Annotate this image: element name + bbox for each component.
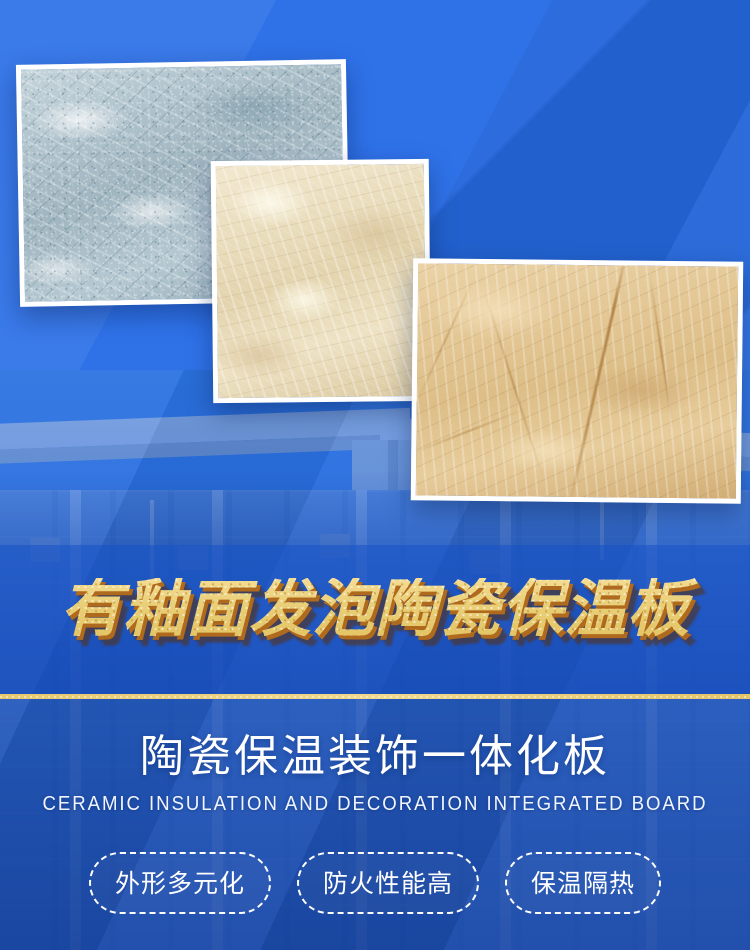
gold-divider — [0, 694, 750, 699]
feature-badge-list: 外形多元化 防火性能高 保温隔热 — [0, 852, 750, 914]
feature-badge-shape[interactable]: 外形多元化 — [89, 852, 271, 914]
tile-sample-tan[interactable] — [411, 258, 744, 503]
product-banner: 有釉面发泡陶瓷保温板 陶瓷保温装饰一体化板 CERAMIC INSULATION… — [0, 0, 750, 950]
subtitle-english: CERAMIC INSULATION AND DECORATION INTEGR… — [26, 793, 724, 815]
tile-sample-cream[interactable] — [211, 159, 432, 403]
subtitle-chinese: 陶瓷保温装饰一体化板 — [0, 733, 750, 781]
tile-texture-cream — [216, 164, 426, 398]
feature-badge-insulation[interactable]: 保温隔热 — [505, 852, 661, 914]
feature-badge-fireproof[interactable]: 防火性能高 — [297, 852, 479, 914]
headline-title: 有釉面发泡陶瓷保温板 — [0, 578, 750, 640]
